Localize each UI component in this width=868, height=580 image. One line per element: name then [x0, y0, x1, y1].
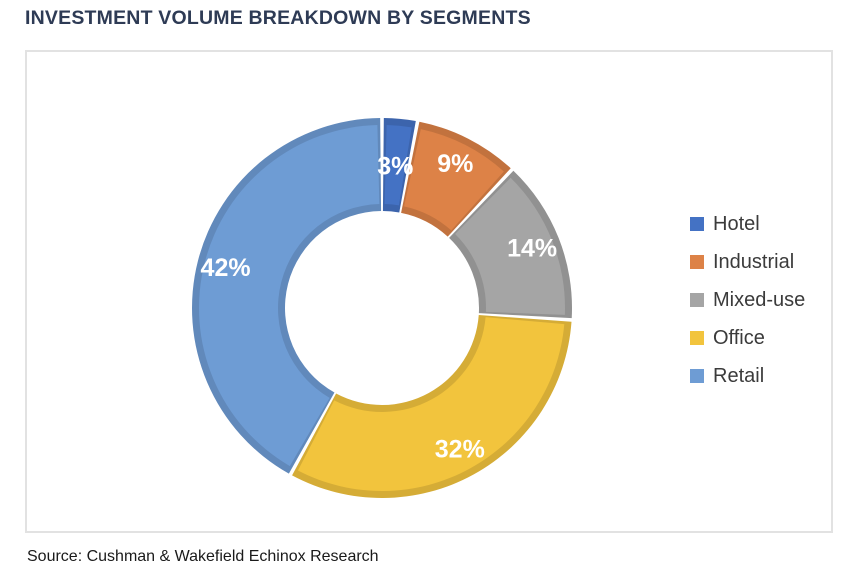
legend-swatch-retail	[690, 369, 704, 383]
donut-slice-office[interactable]	[298, 317, 564, 491]
legend-item-industrial[interactable]: Industrial	[690, 243, 850, 281]
donut-chart: 3%9%14%32%42%	[167, 100, 597, 490]
data-label-industrial: 9%	[437, 150, 473, 178]
data-label-office: 32%	[435, 436, 485, 464]
legend-label-office: Office	[713, 328, 765, 348]
legend-label-mixed-use: Mixed-use	[713, 290, 805, 310]
legend-swatch-office	[690, 331, 704, 345]
legend-item-hotel[interactable]: Hotel	[690, 205, 850, 243]
data-label-hotel: 3%	[377, 153, 413, 181]
donut-chart-svg: 3%9%14%32%42%	[167, 100, 597, 490]
chart-frame: 3%9%14%32%42% Hotel Industrial Mixed-use…	[25, 50, 833, 533]
legend-swatch-industrial	[690, 255, 704, 269]
legend-item-office[interactable]: Office	[690, 319, 850, 357]
legend-item-mixed-use[interactable]: Mixed-use	[690, 281, 850, 319]
legend-swatch-mixed-use	[690, 293, 704, 307]
data-label-mixed-use: 14%	[507, 235, 557, 263]
legend-label-retail: Retail	[713, 366, 764, 386]
data-label-retail: 42%	[201, 254, 251, 282]
chart-legend: Hotel Industrial Mixed-use Office Retail	[690, 205, 850, 395]
legend-label-hotel: Hotel	[713, 214, 760, 234]
legend-item-retail[interactable]: Retail	[690, 357, 850, 395]
legend-swatch-hotel	[690, 217, 704, 231]
page-title: INVESTMENT VOLUME BREAKDOWN BY SEGMENTS	[25, 7, 531, 30]
legend-label-industrial: Industrial	[713, 252, 794, 272]
source-note: Source: Cushman & Wakefield Echinox Rese…	[27, 548, 379, 566]
